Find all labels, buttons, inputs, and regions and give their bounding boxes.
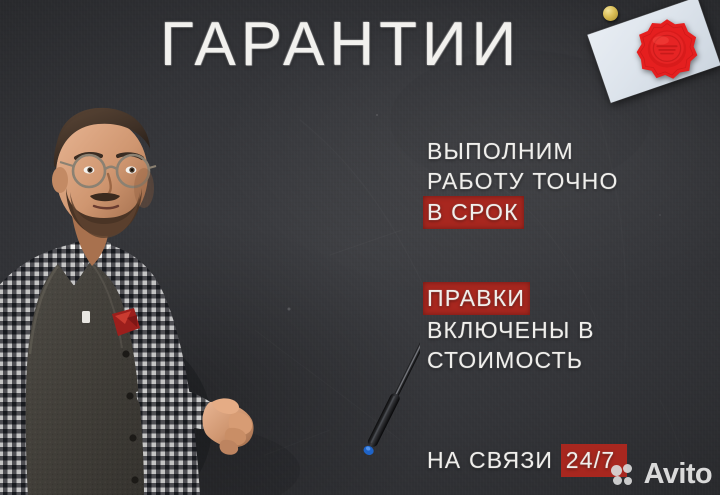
page-title: ГАРАНТИИ: [160, 14, 521, 76]
promo-banner: ГАРАНТИИ ВЫПОЛНИМ РАБОТУ ТОЧНО В СРОК ПР…: [0, 0, 720, 495]
guarantee-line: СТОИМОСТЬ: [427, 345, 699, 375]
head: [52, 108, 156, 238]
pinned-note: [592, 0, 718, 110]
guarantee-list: ВЫПОЛНИМ РАБОТУ ТОЧНО В СРОК ПРАВКИ ВКЛЮ…: [427, 136, 699, 375]
guarantee-item-revisions: ПРАВКИ ВКЛЮЧЕНЫ В СТОИМОСТЬ: [427, 282, 699, 375]
highlight-badge: В СРОК: [423, 196, 524, 229]
pushpin-icon: [603, 6, 618, 21]
avito-wordmark: Avito: [644, 460, 712, 489]
guarantee-line: ВЫПОЛНИМ: [427, 136, 699, 166]
hand: [203, 398, 254, 454]
wax-seal-icon: [636, 18, 698, 80]
avito-dots-icon: [611, 464, 641, 486]
guarantee-item-on-time: ВЫПОЛНИМ РАБОТУ ТОЧНО В СРОК: [427, 136, 699, 229]
guarantee-line: РАБОТУ ТОЧНО: [427, 166, 699, 196]
guarantee-line-highlighted: ПРАВКИ: [427, 282, 699, 315]
list-spacer: [427, 252, 699, 282]
presenter-photo: [0, 96, 294, 495]
guarantee-item-support: НА СВЯЗИ 24/7: [427, 444, 627, 477]
guarantee-line-highlighted: В СРОК: [427, 196, 699, 229]
guarantee-line: ВКЛЮЧЕНЫ В: [427, 315, 699, 345]
avito-watermark: Avito: [611, 460, 712, 489]
highlight-badge: ПРАВКИ: [423, 282, 530, 315]
support-label: НА СВЯЗИ: [427, 447, 561, 473]
